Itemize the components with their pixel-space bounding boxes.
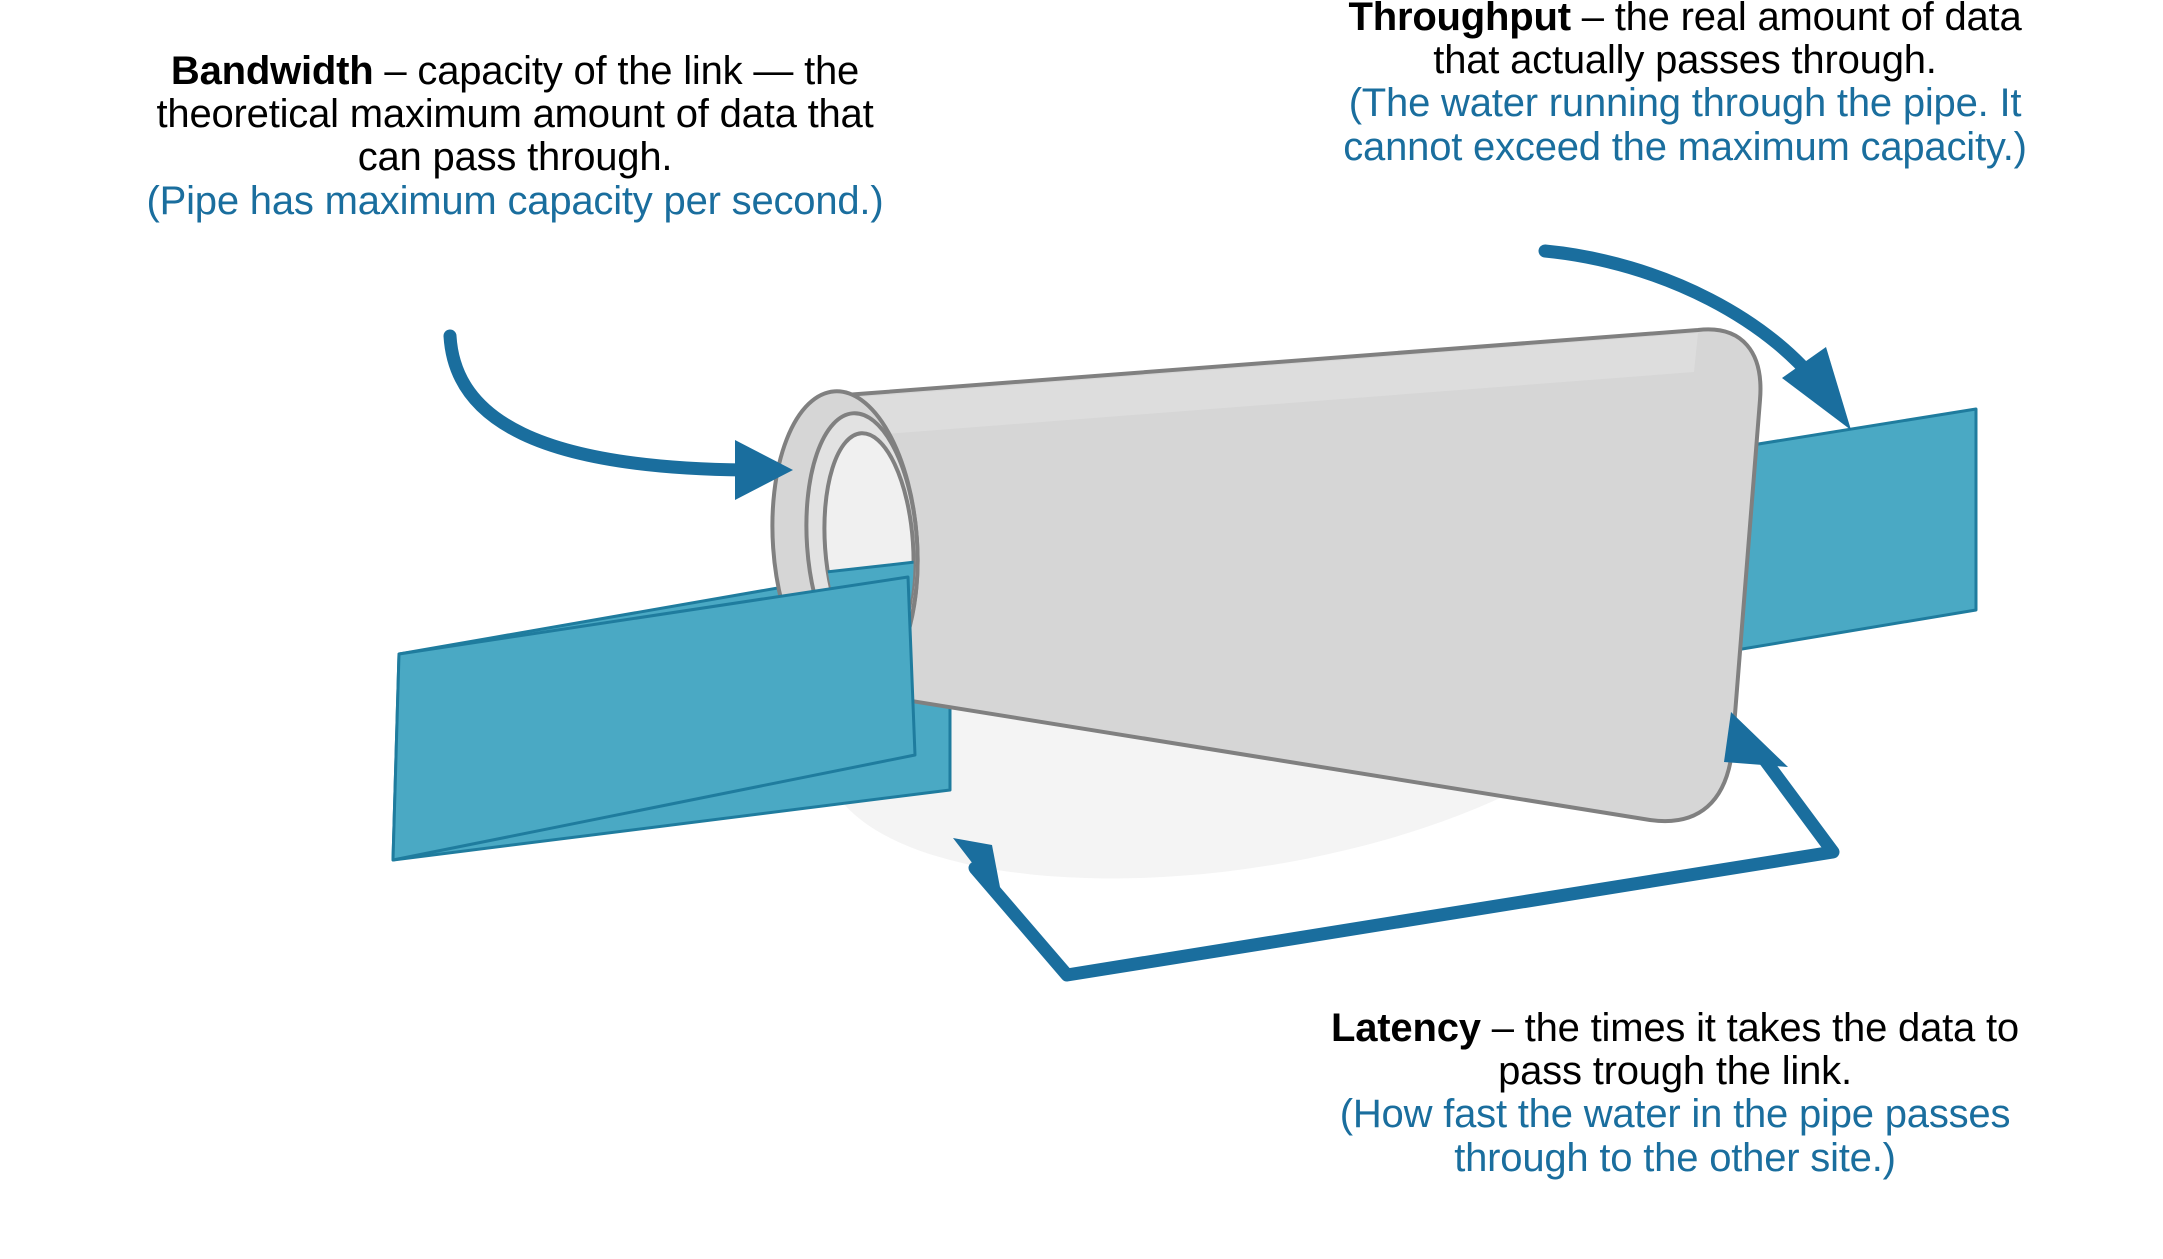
throughput-analogy-line-2: cannot exceed the maximum capacity.): [1215, 126, 2155, 169]
latency-analogy-line-2: through to the other site.): [1195, 1137, 2155, 1180]
throughput-term: Throughput: [1348, 0, 1570, 39]
bandwidth-line-1-rest: – capacity of the link — the: [374, 49, 860, 93]
throughput-analogy-line-1: (The water running through the pipe. It: [1215, 82, 2155, 125]
latency-line-1: Latency – the times it takes the data to: [1195, 1007, 2155, 1050]
bandwidth-line-3: can pass through.: [10, 136, 1020, 179]
bandwidth-line-1: Bandwidth – capacity of the link — the: [10, 50, 1020, 93]
throughput-line-2: that actually passes through.: [1215, 39, 2155, 82]
bandwidth-analogy: (Pipe has maximum capacity per second.): [10, 180, 1020, 223]
callout-throughput: Throughput – the real amount of data tha…: [1215, 0, 2155, 169]
latency-analogy-line-1: (How fast the water in the pipe passes: [1195, 1093, 2155, 1136]
latency-line-2: pass trough the link.: [1195, 1050, 2155, 1093]
bandwidth-line-2: theoretical maximum amount of data that: [10, 93, 1020, 136]
bandwidth-term: Bandwidth: [171, 49, 374, 93]
diagram-canvas: Bandwidth – capacity of the link — the t…: [0, 0, 2163, 1259]
callout-bandwidth: Bandwidth – capacity of the link — the t…: [10, 50, 1020, 223]
latency-line-1-rest: – the times it takes the data to: [1481, 1006, 2019, 1050]
throughput-line-1-rest: – the real amount of data: [1571, 0, 2022, 39]
arrow-bandwidth: [450, 336, 793, 500]
latency-term: Latency: [1331, 1006, 1481, 1050]
callout-latency: Latency – the times it takes the data to…: [1195, 1007, 2155, 1180]
throughput-line-1: Throughput – the real amount of data: [1215, 0, 2155, 39]
